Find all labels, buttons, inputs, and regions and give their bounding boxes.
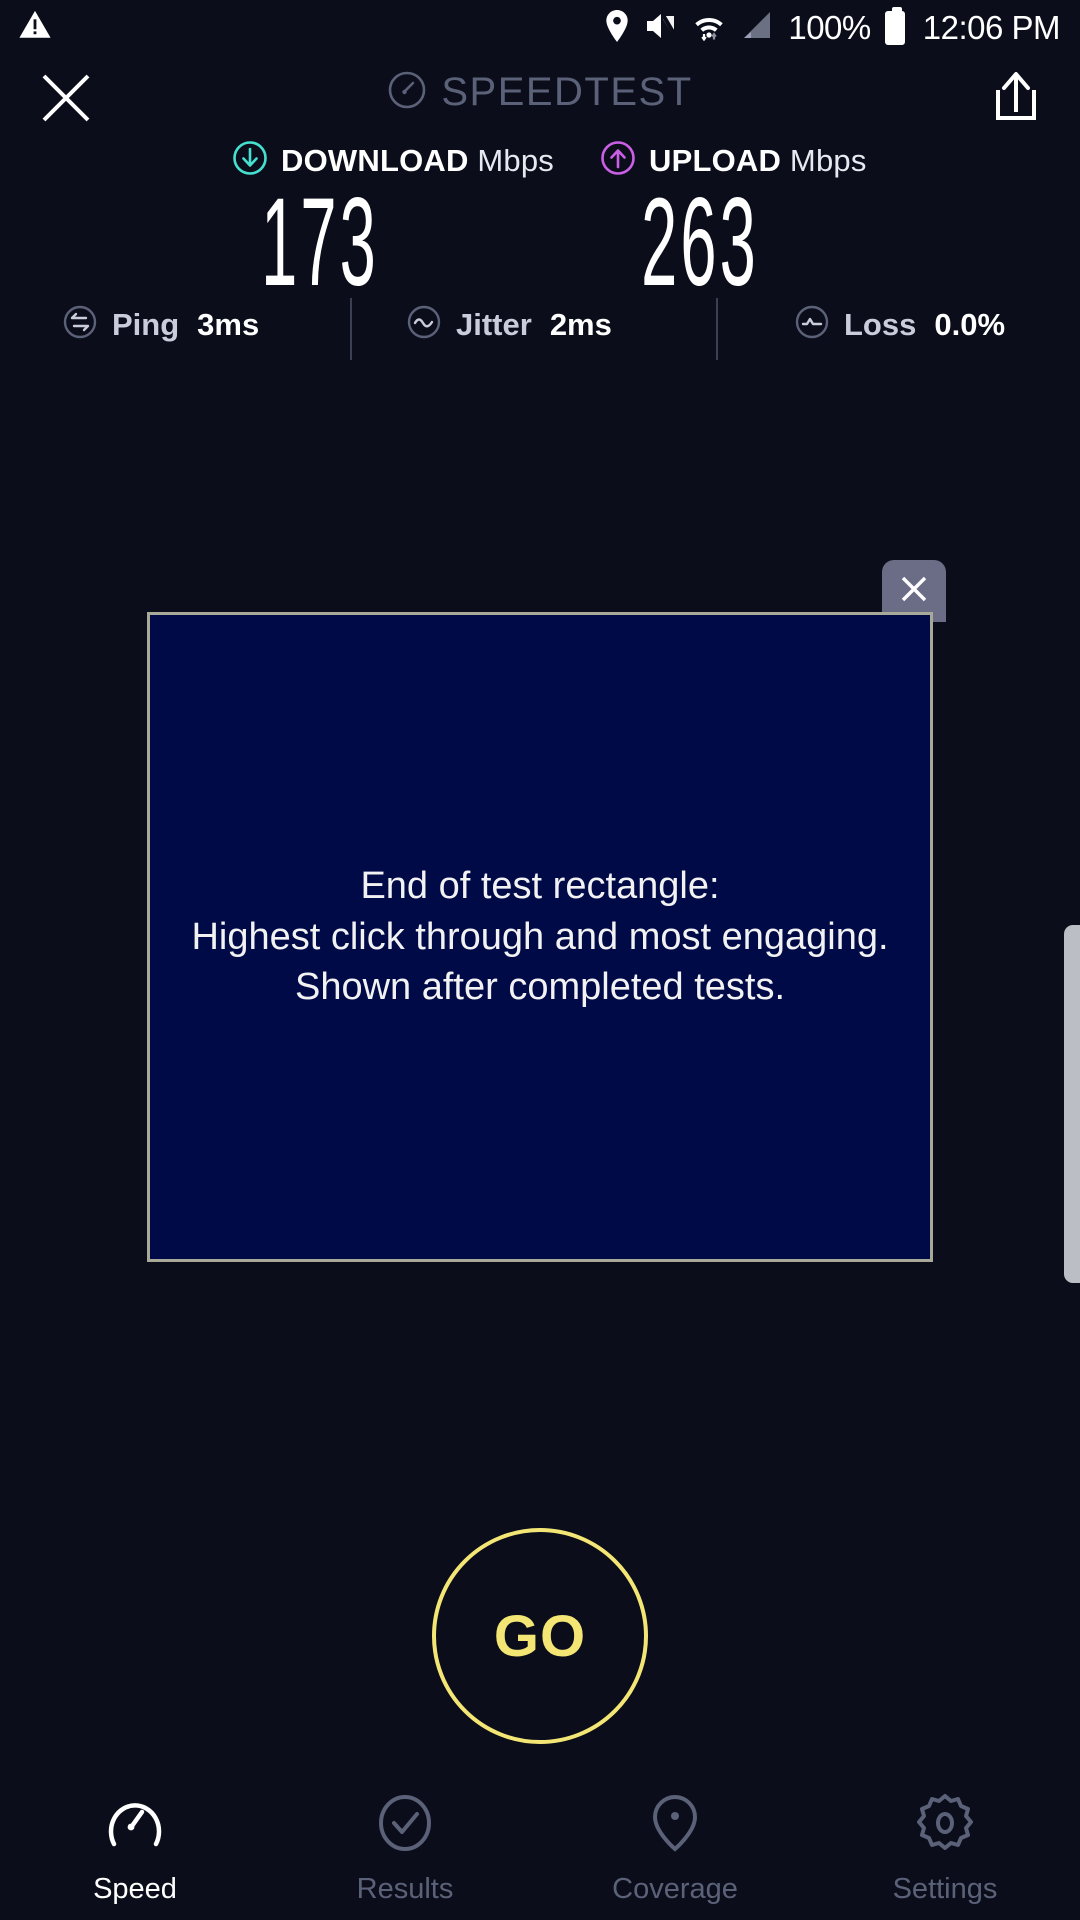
app-header: SPEEDTEST [0,56,1080,138]
warning-triangle-icon [18,8,52,47]
gear-icon [914,1792,976,1859]
metric-jitter-label: Jitter [456,307,532,343]
volume-muted-icon [644,11,678,46]
metric-ping: Ping 3ms [62,304,259,345]
battery-percent-label: 100% [788,9,870,47]
nav-item-coverage[interactable]: Coverage [540,1770,810,1920]
jitter-icon [406,304,442,345]
ad-line-3: Shown after completed tests. [191,962,888,1013]
loss-icon [794,304,830,345]
location-pin-icon [644,1792,706,1859]
nav-label-coverage: Coverage [612,1873,738,1906]
share-icon[interactable] [988,68,1044,126]
go-button-label: GO [494,1603,586,1670]
check-circle-icon [374,1792,436,1859]
go-button[interactable]: GO [432,1528,648,1744]
metric-loss-label: Loss [844,307,916,343]
metrics-divider [716,298,718,360]
nav-item-settings[interactable]: Settings [810,1770,1080,1920]
metric-jitter: Jitter 2ms [406,304,612,345]
nav-label-results: Results [357,1873,454,1906]
metric-ping-label: Ping [112,307,179,343]
scrollbar[interactable] [1064,925,1080,1283]
speedtest-app-screen: 100% 12:06 PM SPEEDTEST [0,0,1080,1920]
bottom-navigation: Speed Results Coverage [0,1770,1080,1920]
close-icon [897,572,931,611]
ping-icon [62,304,98,345]
results-values-row: 173 263 [0,186,1080,298]
battery-full-icon [885,11,905,45]
nav-item-results[interactable]: Results [270,1770,540,1920]
location-pin-icon [604,10,630,47]
ad-line-2: Highest click through and most engaging. [191,912,888,963]
download-value: 173 [216,180,424,305]
speedometer-icon [104,1792,166,1859]
network-metrics-row: Ping 3ms Jitter 2ms Loss 0.0% [0,298,1080,364]
cellular-signal-icon [740,10,774,47]
brand-title: SPEEDTEST [441,70,692,115]
status-bar: 100% 12:06 PM [0,0,1080,56]
metrics-divider [350,298,352,360]
ad-line-1: End of test rectangle: [191,861,888,912]
nav-label-speed: Speed [93,1873,177,1906]
wifi-icon [692,10,726,47]
status-bar-right: 100% 12:06 PM [604,0,1060,56]
nav-label-settings: Settings [893,1873,998,1906]
speedometer-icon [387,70,427,115]
brand-logo: SPEEDTEST [0,70,1080,115]
metric-jitter-value: 2ms [550,307,612,343]
ad-banner[interactable]: End of test rectangle: Highest click thr… [147,612,933,1262]
ad-text: End of test rectangle: Highest click thr… [191,861,888,1013]
results-panel: DOWNLOAD Mbps UPLOAD Mbps 173 263 [0,140,1080,298]
clock-label: 12:06 PM [923,9,1060,47]
nav-item-speed[interactable]: Speed [0,1770,270,1920]
results-labels-row: DOWNLOAD Mbps UPLOAD Mbps [0,140,1080,186]
arrow-up-circle-icon [600,140,636,181]
metric-ping-value: 3ms [197,307,259,343]
metric-loss: Loss 0.0% [794,304,1005,345]
upload-value: 263 [596,180,804,305]
metric-loss-value: 0.0% [934,307,1005,343]
